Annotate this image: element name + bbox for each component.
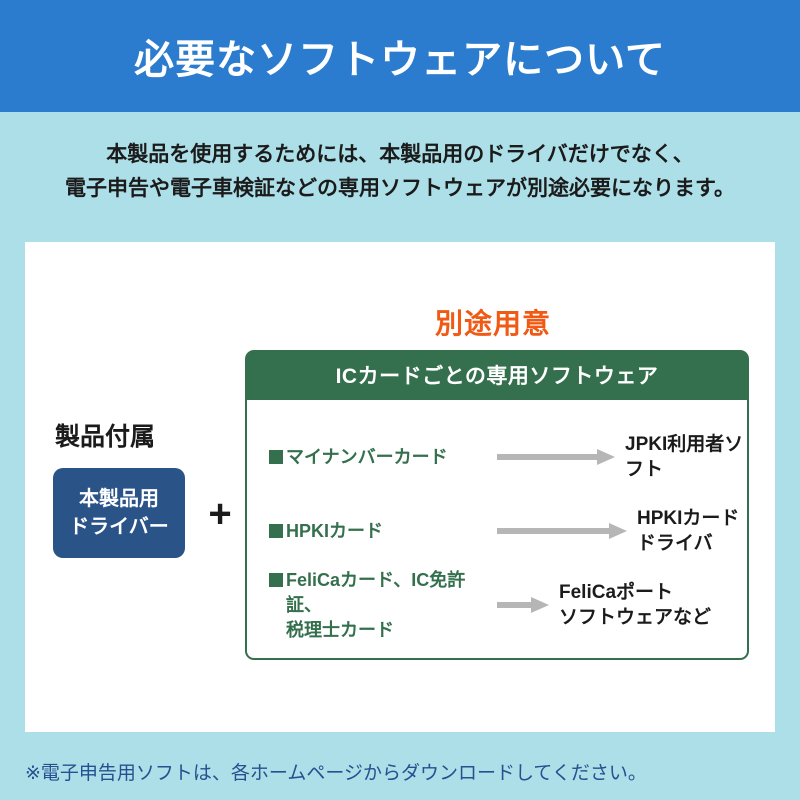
arrow-right-icon [497, 523, 627, 539]
plus-icon: + [200, 494, 240, 534]
bundled-section-label: 製品付属 [55, 417, 155, 453]
bundled-driver-box: 本製品用 ドライバー [53, 468, 185, 558]
software-row: FeliCaカード、IC免許証、 税理士カード FeliCaポート ソフトウェア… [247, 568, 747, 642]
software-row: HPKIカード HPKIカードドライバ [247, 494, 747, 568]
page-title: 必要なソフトウェアについて [134, 27, 666, 85]
square-bullet-icon [269, 450, 283, 464]
card-type-label: FeliCaカード、IC免許証、 税理士カード [286, 568, 487, 643]
square-bullet-icon [269, 573, 283, 587]
square-bullet-icon [269, 524, 283, 538]
intro-paragraph: 本製品を使用するためには、本製品用のドライバだけでなく、 電子申告や電子車検証な… [0, 138, 800, 206]
software-panel-header: ICカードごとの専用ソフトウェア [245, 350, 749, 400]
card-type-label: マイナンバーカード [286, 445, 448, 470]
software-row: マイナンバーカード JPKI利用者ソフト [247, 420, 747, 494]
footnote-text: ※電子申告用ソフトは、各ホームページからダウンロードしてください。 [25, 758, 647, 785]
software-panel-title: ICカードごとの専用ソフトウェア [336, 360, 659, 390]
software-panel-body: マイナンバーカード JPKI利用者ソフト HPKIカード [245, 400, 749, 660]
arrow-right-icon [497, 597, 549, 613]
software-name-label: FeliCaポート ソフトウェアなど [559, 580, 711, 630]
bundled-driver-label: 本製品用 ドライバー [69, 485, 169, 541]
intro-line-1: 本製品を使用するためには、本製品用のドライバだけでなく、 [0, 138, 800, 172]
software-panel: ICカードごとの専用ソフトウェア マイナンバーカード JPKI利用者ソフト [245, 350, 749, 662]
software-name-label: JPKI利用者ソフト [625, 432, 747, 482]
card-type-group: マイナンバーカード [269, 445, 487, 470]
software-name-label: HPKIカードドライバ [637, 506, 747, 556]
header-banner: 必要なソフトウェアについて [0, 0, 800, 112]
card-type-label: HPKIカード [286, 519, 383, 544]
prepare-separately-label: 別途用意 [435, 302, 551, 342]
arrow-right-icon [497, 449, 615, 465]
card-type-group: FeliCaカード、IC免許証、 税理士カード [269, 568, 487, 643]
card-type-group: HPKIカード [269, 519, 487, 544]
intro-line-2: 電子申告や電子車検証などの専用ソフトウェアが別途必要になります。 [0, 172, 800, 206]
content-card: 製品付属 本製品用 ドライバー + 別途用意 ICカードごとの専用ソフトウェア … [25, 242, 775, 732]
